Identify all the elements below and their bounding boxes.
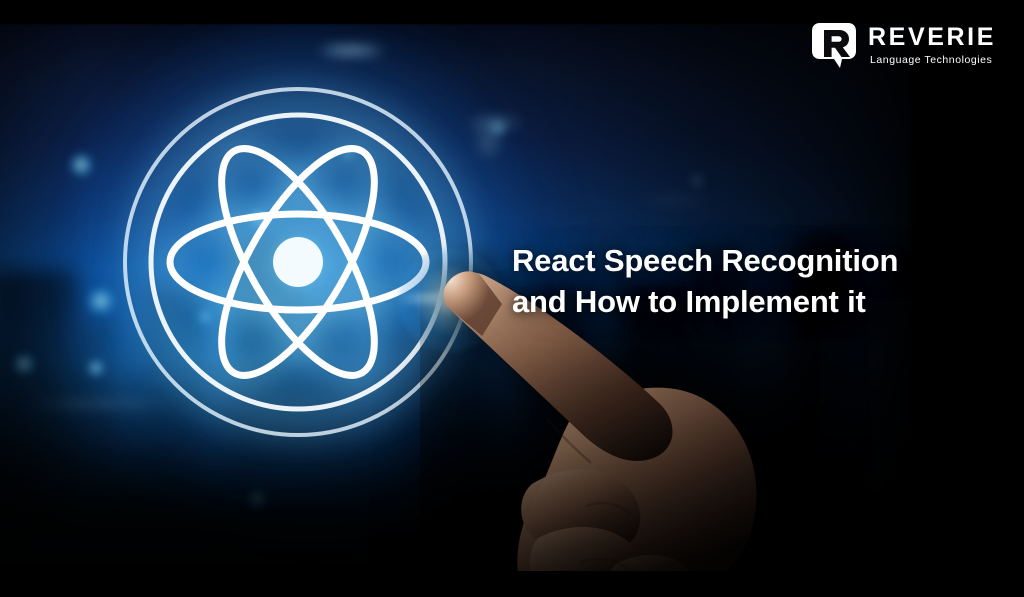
headline-line-1: React Speech Recognition xyxy=(512,240,982,281)
banner: React Speech Recognition and How to Impl… xyxy=(0,0,1024,597)
reverie-speech-bubble-r-icon xyxy=(810,21,858,69)
page-title: React Speech Recognition and How to Impl… xyxy=(512,240,982,322)
headline-line-2: and How to Implement it xyxy=(512,281,982,322)
reverie-logo[interactable]: REVERIE Language Technologies xyxy=(810,21,996,69)
brand-name: REVERIE xyxy=(868,25,996,50)
brand-tagline: Language Technologies xyxy=(870,55,996,66)
nucleus-circle xyxy=(273,237,323,287)
letterbox-bottom xyxy=(0,571,1024,597)
reverie-logo-text: REVERIE Language Technologies xyxy=(868,25,996,66)
